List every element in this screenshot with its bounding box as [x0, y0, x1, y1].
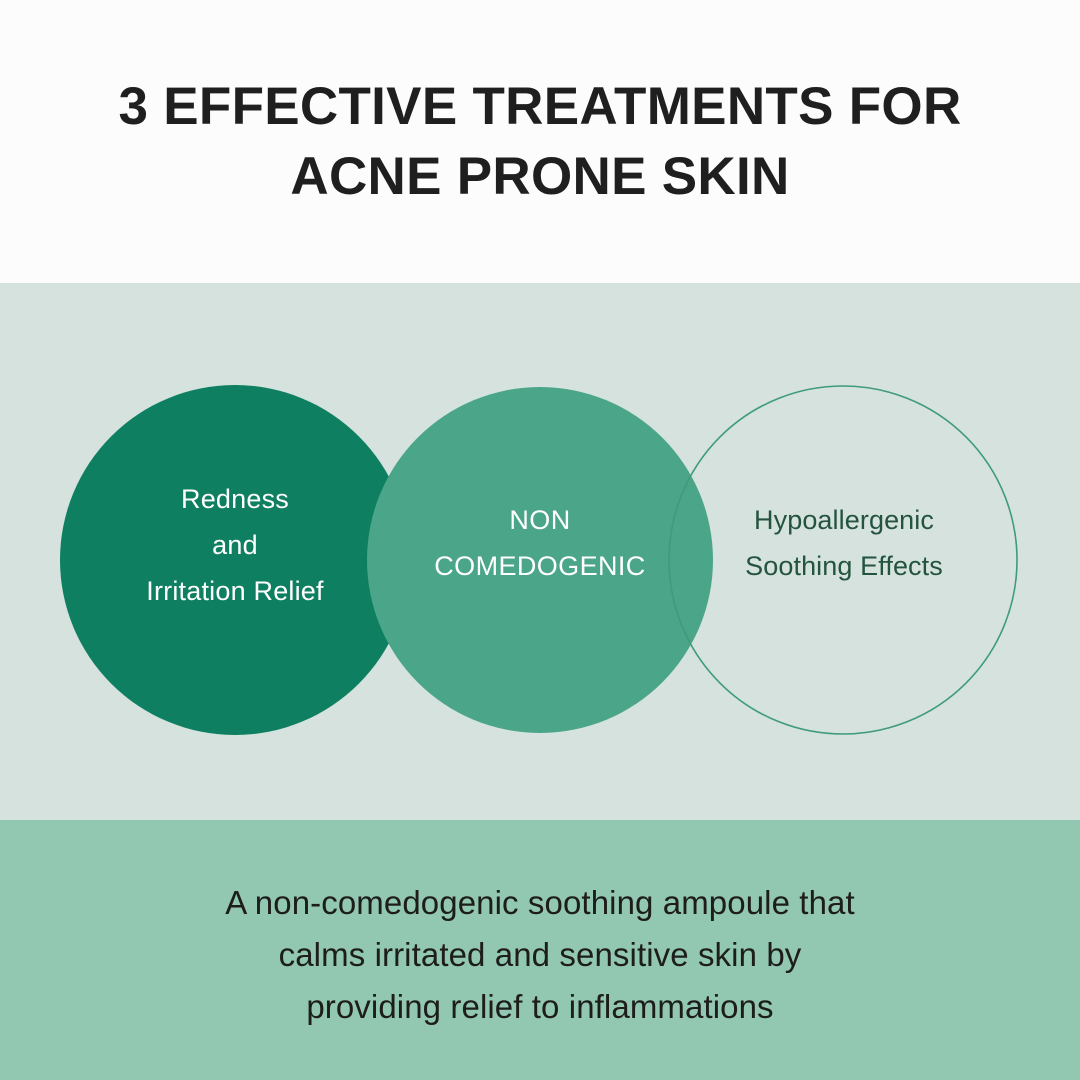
title-band: 3 EFFECTIVE TREATMENTS FOR ACNE PRONE SK…	[0, 0, 1080, 283]
product-description: A non-comedogenic soothing ampoule that …	[0, 877, 1080, 1033]
venn-circle-hypoallergenic[interactable]	[669, 386, 1017, 734]
caption-line-2: calms irritated and sensitive skin by	[0, 929, 1080, 981]
venn-circle-redness-relief[interactable]	[60, 385, 410, 735]
venn-band: Redness and Irritation Relief NON COMEDO…	[0, 283, 1080, 820]
page-title: 3 EFFECTIVE TREATMENTS FOR ACNE PRONE SK…	[0, 72, 1080, 212]
venn-circle-non-comedogenic[interactable]	[367, 387, 713, 733]
title-line-1: 3 EFFECTIVE TREATMENTS FOR	[0, 72, 1080, 142]
venn-diagram	[0, 283, 1080, 820]
title-line-2: ACNE PRONE SKIN	[0, 142, 1080, 212]
caption-line-1: A non-comedogenic soothing ampoule that	[0, 877, 1080, 929]
caption-line-3: providing relief to inflammations	[0, 981, 1080, 1033]
caption-band: A non-comedogenic soothing ampoule that …	[0, 820, 1080, 1080]
infographic-poster: 3 EFFECTIVE TREATMENTS FOR ACNE PRONE SK…	[0, 0, 1080, 1080]
